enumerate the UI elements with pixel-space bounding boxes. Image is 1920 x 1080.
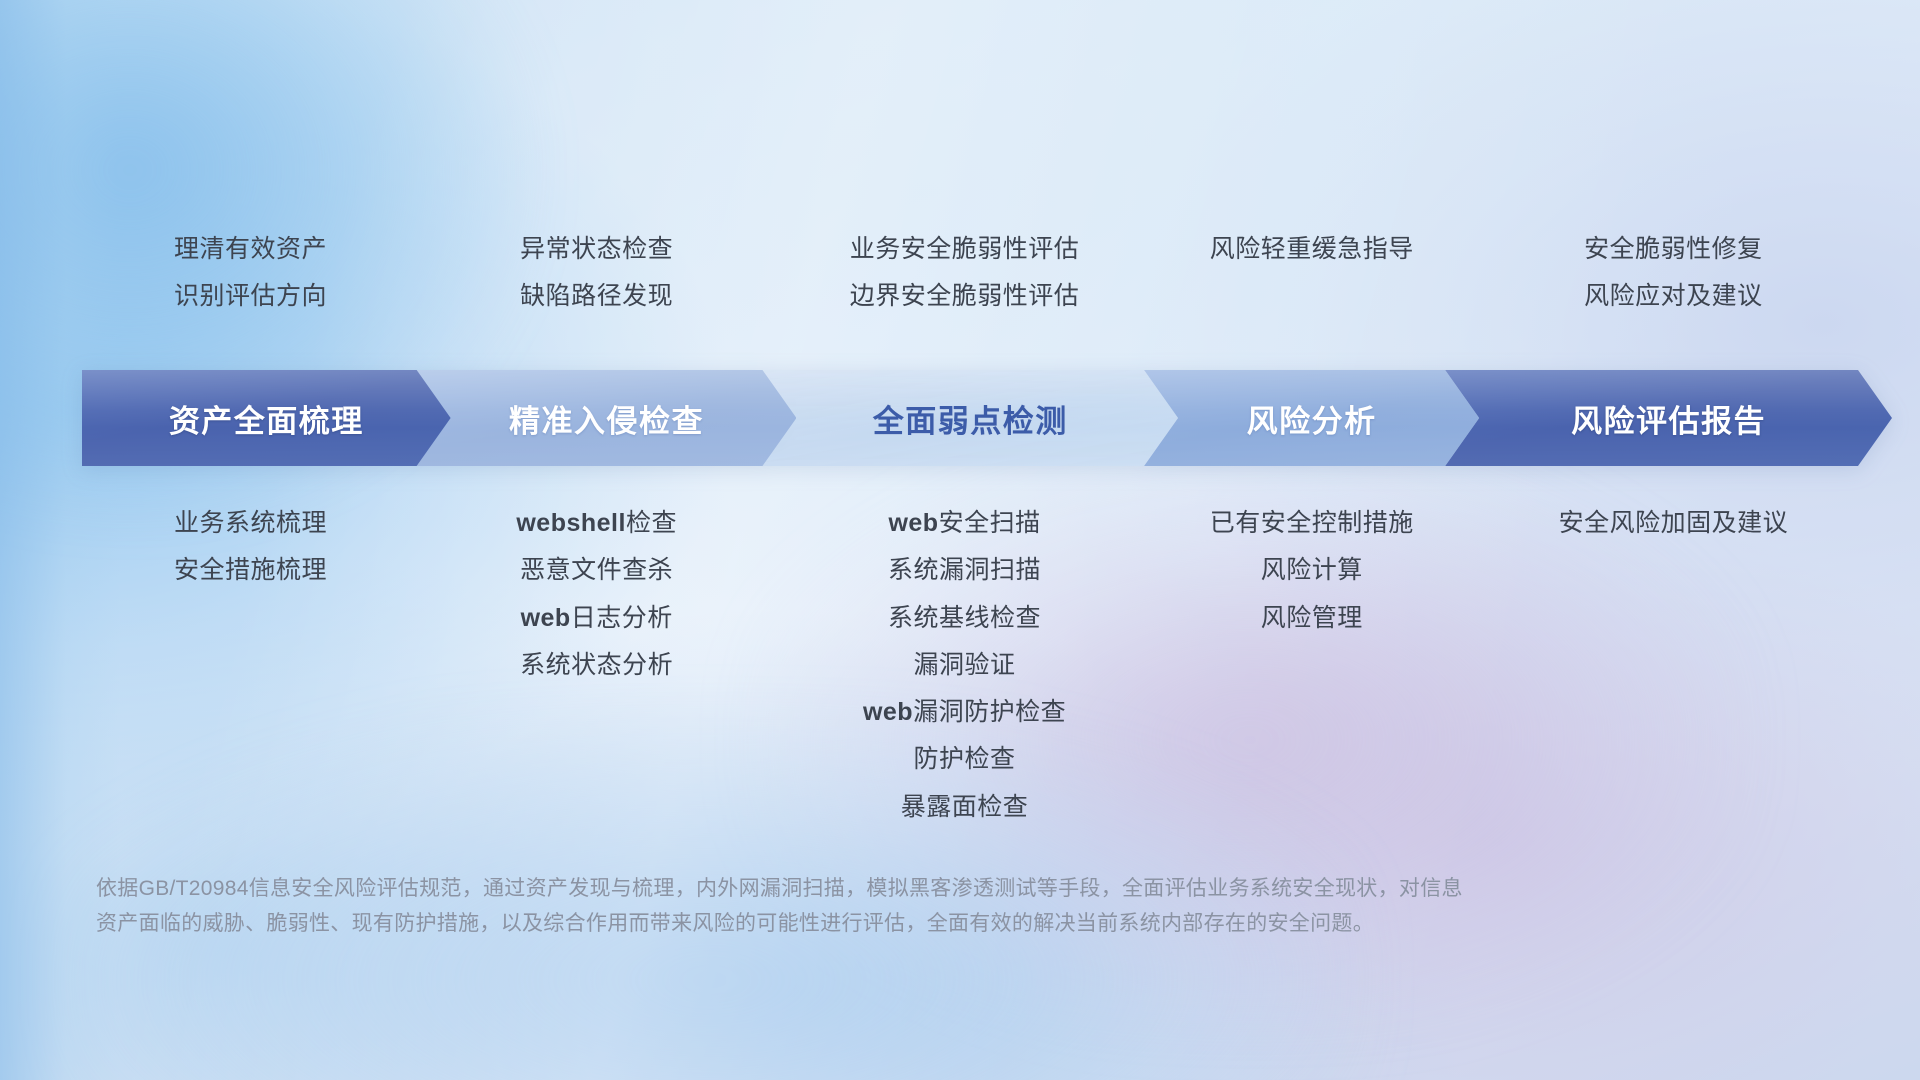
stage-chevron-intrusion-check[interactable]: 精准入侵检查	[417, 370, 797, 466]
bottom-caption-text: 检查	[626, 509, 677, 537]
top-caption-item: 异常状态检查	[520, 234, 673, 265]
footer-description: 依据GB/T20984信息安全风险评估规范，通过资产发现与梳理，内外网漏洞扫描，…	[96, 872, 1596, 941]
bottom-caption-item: 风险管理	[1261, 603, 1363, 634]
bottom-caption-item: 安全风险加固及建议	[1559, 508, 1789, 539]
bottom-caption-item: 安全措施梳理	[174, 555, 327, 586]
stage-chevron-risk-analysis[interactable]: 风险分析	[1144, 370, 1479, 466]
bottom-caption-item: web漏洞防护检查	[863, 697, 1066, 728]
top-caption-item: 风险轻重缓急指导	[1210, 234, 1414, 265]
bottom-caption-col-intrusion-check: webshell检查恶意文件查杀web日志分析系统状态分析	[421, 508, 772, 681]
top-caption-col-weakness-detection: 业务安全脆弱性评估边界安全脆弱性评估	[772, 234, 1156, 313]
top-caption-row: 理清有效资产识别评估方向异常状态检查缺陷路径发现业务安全脆弱性评估边界安全脆弱性…	[80, 234, 1880, 313]
top-caption-item: 风险应对及建议	[1584, 281, 1763, 312]
bottom-caption-item: web日志分析	[521, 603, 673, 634]
bottom-caption-item: 系统状态分析	[520, 650, 673, 681]
bottom-caption-latin: web	[888, 509, 938, 537]
bottom-caption-row: 业务系统梳理安全措施梳理webshell检查恶意文件查杀web日志分析系统状态分…	[80, 508, 1880, 823]
stage-label: 精准入侵检查	[509, 396, 704, 441]
top-caption-item: 缺陷路径发现	[520, 281, 673, 312]
bottom-caption-text: 安全扫描	[939, 509, 1041, 537]
process-diagram: 理清有效资产识别评估方向异常状态检查缺陷路径发现业务安全脆弱性评估边界安全脆弱性…	[0, 0, 1920, 1080]
bottom-caption-item: 系统漏洞扫描	[888, 555, 1041, 586]
bottom-caption-text: 日志分析	[571, 604, 673, 632]
stage-label: 风险分析	[1247, 396, 1377, 441]
bottom-caption-text: 漏洞防护检查	[913, 698, 1066, 726]
bottom-caption-item: 暴露面检查	[901, 792, 1029, 823]
bottom-caption-col-asset-inventory: 业务系统梳理安全措施梳理	[80, 508, 421, 587]
bottom-caption-item: 防护检查	[914, 744, 1016, 775]
stage-chevron-risk-report[interactable]: 风险评估报告	[1445, 370, 1892, 466]
top-caption-item: 安全脆弱性修复	[1584, 234, 1763, 265]
stage-label: 资产全面梳理	[169, 396, 364, 441]
stage-label: 风险评估报告	[1571, 396, 1766, 441]
top-caption-item: 业务安全脆弱性评估	[850, 234, 1080, 265]
bottom-caption-col-risk-report: 安全风险加固及建议	[1467, 508, 1880, 539]
bottom-caption-item: web安全扫描	[888, 508, 1040, 539]
bottom-caption-item: 已有安全控制措施	[1210, 508, 1414, 539]
bottom-caption-col-weakness-detection: web安全扫描系统漏洞扫描系统基线检查漏洞验证web漏洞防护检查防护检查暴露面检…	[772, 508, 1156, 823]
bottom-caption-item: 漏洞验证	[914, 650, 1016, 681]
stage-chevron-band: 资产全面梳理精准入侵检查全面弱点检测风险分析风险评估报告	[82, 370, 1858, 466]
top-caption-col-intrusion-check: 异常状态检查缺陷路径发现	[421, 234, 772, 313]
top-caption-col-asset-inventory: 理清有效资产识别评估方向	[80, 234, 421, 313]
bottom-caption-item: 业务系统梳理	[174, 508, 327, 539]
bottom-caption-col-risk-analysis: 已有安全控制措施风险计算风险管理	[1157, 508, 1467, 634]
top-caption-col-risk-analysis: 风险轻重缓急指导	[1157, 234, 1467, 313]
stage-chevron-weakness-detection[interactable]: 全面弱点检测	[762, 370, 1178, 466]
bottom-caption-latin: web	[521, 604, 571, 632]
top-caption-col-risk-report: 安全脆弱性修复风险应对及建议	[1467, 234, 1880, 313]
top-caption-item: 识别评估方向	[174, 281, 327, 312]
bottom-caption-item: 恶意文件查杀	[520, 555, 673, 586]
bottom-caption-latin: webshell	[516, 509, 626, 537]
top-caption-item: 理清有效资产	[174, 234, 327, 265]
stage-chevron-asset-inventory[interactable]: 资产全面梳理	[82, 370, 451, 466]
bottom-caption-item: webshell检查	[516, 508, 677, 539]
bottom-caption-item: 风险计算	[1261, 555, 1363, 586]
bottom-caption-item: 系统基线检查	[888, 603, 1041, 634]
footer-line-2: 资产面临的威胁、脆弱性、现有防护措施，以及综合作用而带来风险的可能性进行评估，全…	[96, 907, 1596, 942]
stage-label: 全面弱点检测	[873, 396, 1068, 441]
top-caption-item: 边界安全脆弱性评估	[850, 281, 1080, 312]
bottom-caption-latin: web	[863, 698, 913, 726]
footer-line-1: 依据GB/T20984信息安全风险评估规范，通过资产发现与梳理，内外网漏洞扫描，…	[96, 872, 1596, 907]
